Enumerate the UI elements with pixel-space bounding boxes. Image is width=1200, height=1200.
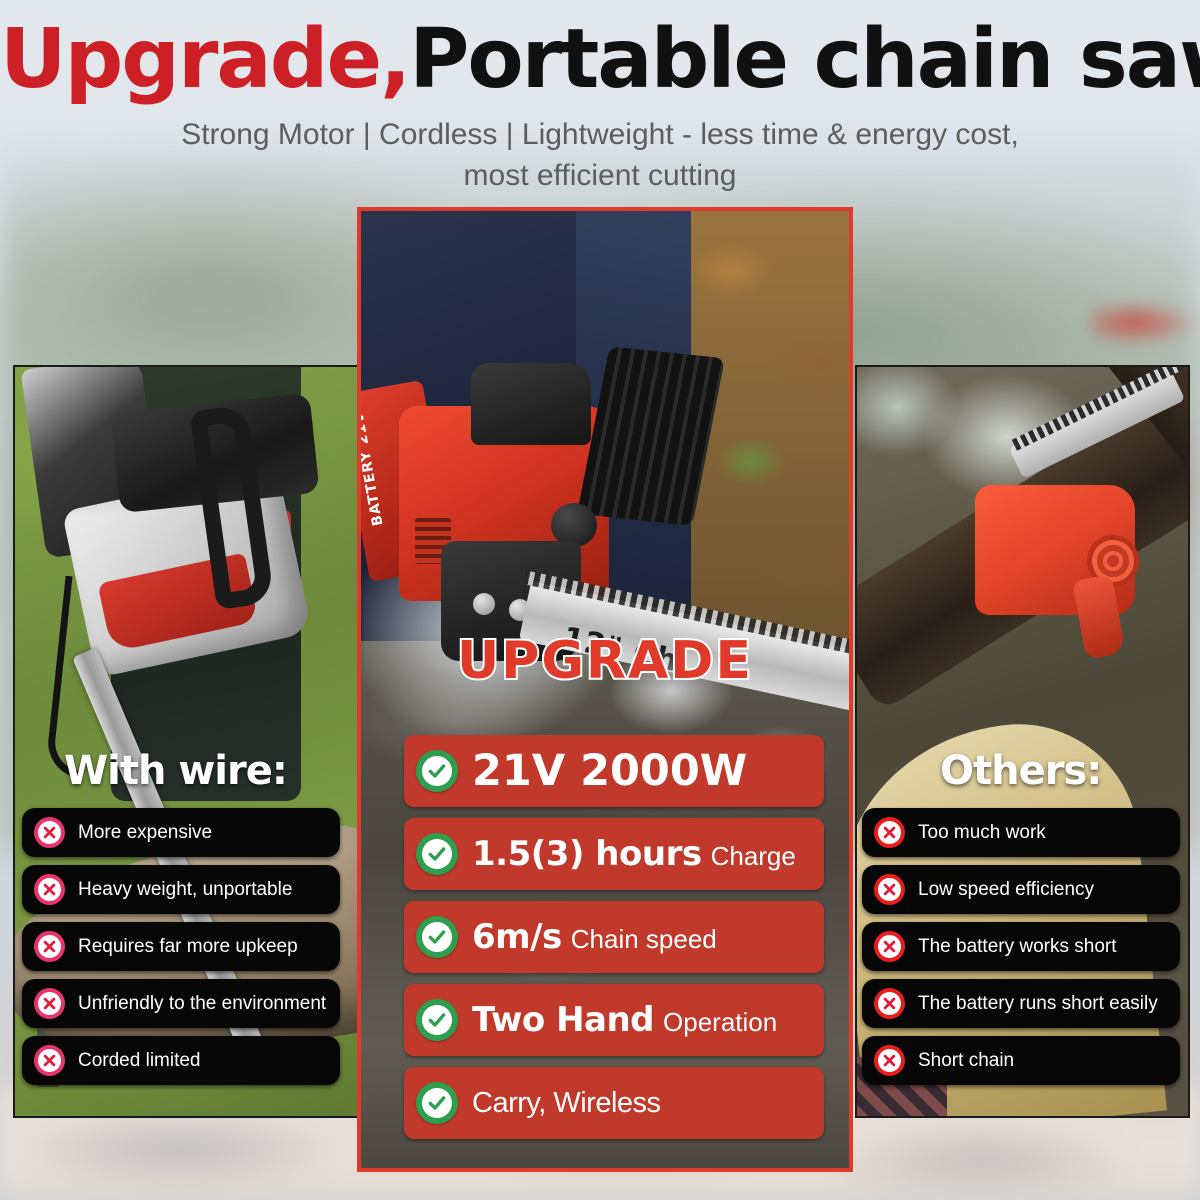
x-icon: [874, 931, 905, 962]
feature-value: 21V 2000W: [472, 746, 747, 796]
saw-top-cover: [471, 363, 591, 445]
con-text: Corded limited: [78, 1050, 201, 1072]
right-con-list: Too much workLow speed efficiencyThe bat…: [862, 808, 1180, 1093]
feature-row: 6m/sChain speed: [404, 901, 824, 973]
left-con-list: More expensiveHeavy weight, unportableRe…: [22, 808, 340, 1093]
con-text: Unfriendly to the environment: [78, 993, 326, 1015]
feature-value: Two Hand: [472, 1000, 654, 1040]
feature-row: Carry, Wireless: [404, 1067, 824, 1139]
feature-text: Carry, Wireless: [472, 1087, 661, 1120]
con-row: Unfriendly to the environment: [22, 979, 340, 1028]
feature-label: Charge: [711, 841, 796, 871]
con-text: Heavy weight, unportable: [78, 879, 292, 901]
con-text: Low speed efficiency: [918, 879, 1094, 901]
x-icon: [874, 988, 905, 1019]
feature-text: Two HandOperation: [472, 1000, 777, 1040]
feature-value: 6m/s: [472, 917, 562, 957]
feature-row: Two HandOperation: [404, 984, 824, 1056]
bar-nut-1: [473, 593, 495, 615]
center-product-panel: BATTERY 21V 12" Ch UPGRADE 21V 2000W1.5(…: [357, 207, 853, 1172]
con-row: The battery works short: [862, 922, 1180, 971]
con-text: Too much work: [918, 822, 1046, 844]
title-rest: Portable chain saw: [409, 12, 1200, 107]
con-row: The battery runs short easily: [862, 979, 1180, 1028]
feature-text: 6m/sChain speed: [472, 917, 717, 957]
con-row: Corded limited: [22, 1036, 340, 1085]
con-text: Requires far more upkeep: [78, 936, 298, 958]
feature-value: 1.5(3) hours: [472, 834, 702, 874]
feature-value: Carry, Wireless: [472, 1087, 661, 1119]
check-icon: [416, 833, 458, 875]
x-icon: [874, 817, 905, 848]
title-highlight: Upgrade,: [0, 12, 409, 107]
page-title: Upgrade,Portable chain saw: [0, 0, 1200, 102]
feature-row: 21V 2000W: [404, 735, 824, 807]
check-icon: [416, 1082, 458, 1124]
x-icon: [34, 817, 65, 848]
con-text: Short chain: [918, 1050, 1014, 1072]
con-text: The battery runs short easily: [918, 993, 1158, 1015]
check-icon: [416, 916, 458, 958]
con-row: Too much work: [862, 808, 1180, 857]
feature-text: 1.5(3) hoursCharge: [472, 834, 796, 874]
con-row: Low speed efficiency: [862, 865, 1180, 914]
con-row: Requires far more upkeep: [22, 922, 340, 971]
x-icon: [874, 874, 905, 905]
x-icon: [34, 1045, 65, 1076]
x-icon: [874, 1045, 905, 1076]
subtitle-line-2: most efficient cutting: [0, 155, 1200, 196]
feature-text: 21V 2000W: [472, 746, 747, 796]
x-icon: [34, 988, 65, 1019]
check-icon: [416, 750, 458, 792]
con-text: More expensive: [78, 822, 212, 844]
header: Upgrade,Portable chain saw Strong Motor …: [0, 0, 1200, 196]
check-icon: [416, 999, 458, 1041]
feature-list: 21V 2000W1.5(3) hoursCharge6m/sChain spe…: [404, 735, 824, 1150]
x-icon: [34, 931, 65, 962]
con-text: The battery works short: [918, 936, 1117, 958]
background-red-accent: [1090, 300, 1200, 346]
left-panel-heading: With wire:: [64, 748, 287, 794]
right-panel-heading: Others:: [940, 748, 1101, 794]
con-row: More expensive: [22, 808, 340, 857]
con-row: Heavy weight, unportable: [22, 865, 340, 914]
upgrade-badge: UPGRADE: [361, 631, 849, 691]
feature-label: Operation: [663, 1007, 777, 1037]
feature-row: 1.5(3) hoursCharge: [404, 818, 824, 890]
subtitle: Strong Motor | Cordless | Lightweight - …: [0, 114, 1200, 197]
subtitle-line-1: Strong Motor | Cordless | Lightweight - …: [0, 114, 1200, 155]
x-icon: [34, 874, 65, 905]
feature-label: Chain speed: [571, 924, 717, 954]
con-row: Short chain: [862, 1036, 1180, 1085]
